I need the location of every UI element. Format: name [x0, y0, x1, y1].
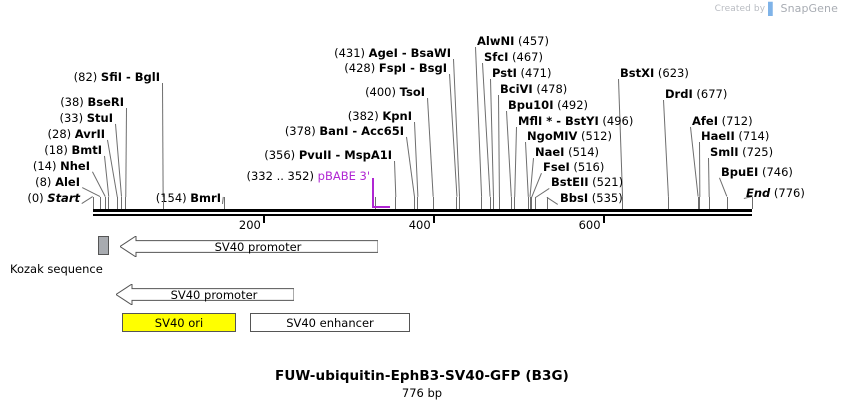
- leader-line: [427, 98, 434, 197]
- leader-line: [506, 111, 512, 197]
- enzyme-position: (332 .. 352): [246, 169, 317, 183]
- enzyme-label[interactable]: (378) BanI - Acc65I: [285, 125, 404, 138]
- leader-line: [162, 83, 164, 197]
- leader-line: [708, 158, 710, 197]
- enzyme-name: SfiI - BglI: [101, 70, 160, 84]
- enzyme-label[interactable]: End (776): [746, 187, 805, 200]
- restriction-site-tick[interactable]: [547, 197, 548, 209]
- enzyme-position: (400): [365, 85, 400, 99]
- restriction-site-tick[interactable]: [456, 197, 457, 209]
- restriction-site-tick[interactable]: [535, 197, 536, 209]
- leader-line: [690, 127, 699, 197]
- enzyme-label[interactable]: (0) Start: [27, 192, 80, 205]
- enzyme-name: NaeI: [535, 145, 564, 159]
- restriction-site-tick[interactable]: [514, 197, 515, 209]
- enzyme-position: (28): [48, 127, 75, 141]
- sequence-backbone-top: [93, 209, 752, 212]
- enzyme-position: (82): [74, 70, 101, 84]
- restriction-site-tick[interactable]: [752, 197, 753, 209]
- restriction-site-tick[interactable]: [493, 197, 494, 209]
- restriction-site-tick[interactable]: [709, 197, 710, 209]
- enzyme-name: End: [746, 186, 770, 200]
- enzyme-position: (18): [44, 143, 71, 157]
- enzyme-name: FspI - BsgI: [379, 61, 447, 75]
- enzyme-position: (725): [739, 145, 774, 159]
- enzyme-label[interactable]: AlwNI (457): [477, 35, 549, 48]
- feature-label: SV40 promoter: [120, 236, 378, 257]
- restriction-site-tick[interactable]: [499, 197, 500, 209]
- enzyme-name: BstXI: [620, 66, 654, 80]
- snapgene-watermark: Created by ▌ SnapGene: [715, 2, 838, 15]
- enzyme-label[interactable]: BstEII (521): [551, 176, 623, 189]
- ruler-tick-label: 600: [579, 218, 603, 232]
- enzyme-label[interactable]: (428) FspI - BsgI: [344, 62, 447, 75]
- enzyme-name: SfcI: [484, 50, 508, 64]
- leader-line: [453, 59, 460, 197]
- enzyme-label[interactable]: BbsI (535): [560, 192, 623, 205]
- feature-label: SV40 enhancer: [286, 316, 374, 330]
- restriction-site-tick[interactable]: [417, 197, 418, 209]
- restriction-site-tick[interactable]: [490, 197, 491, 209]
- enzyme-name: MflI * - BstYI: [518, 114, 599, 128]
- enzyme-name: TsoI: [400, 85, 425, 99]
- enzyme-label[interactable]: FseI (516): [543, 161, 604, 174]
- restriction-site-tick[interactable]: [668, 197, 669, 209]
- enzyme-label[interactable]: AfeI (712): [692, 115, 753, 128]
- restriction-site-tick[interactable]: [699, 197, 700, 209]
- leader-line: [406, 137, 415, 197]
- leader-line: [475, 47, 482, 197]
- restriction-site-tick[interactable]: [100, 197, 101, 209]
- enzyme-label[interactable]: NgoMIV (512): [527, 130, 612, 143]
- feature-label: SV40 promoter: [116, 284, 294, 305]
- restriction-site-tick[interactable]: [433, 197, 434, 209]
- enzyme-name: AgeI - BsaWI: [369, 46, 451, 60]
- enzyme-position: (431): [334, 46, 369, 60]
- enzyme-label[interactable]: MflI * - BstYI (496): [518, 115, 633, 128]
- restriction-site-tick[interactable]: [93, 197, 94, 209]
- pbabe-3-primer-bracket[interactable]: [372, 178, 390, 208]
- enzyme-name: HaeII: [701, 129, 735, 143]
- restriction-site-tick[interactable]: [108, 197, 109, 209]
- enzyme-name: AvrII: [75, 127, 105, 141]
- leader-line: [490, 79, 494, 197]
- enzyme-name: PstI: [492, 66, 517, 80]
- plasmid-length-label: 776 bp: [0, 386, 844, 400]
- enzyme-position: (154): [156, 191, 191, 205]
- enzyme-position: (516): [570, 160, 605, 174]
- ruler-tick-label: 400: [409, 218, 433, 232]
- enzyme-name: BseRI: [87, 95, 124, 109]
- enzyme-position: (746): [758, 165, 793, 179]
- enzyme-label[interactable]: Bpu10I (492): [508, 99, 588, 112]
- restriction-site-tick[interactable]: [531, 197, 532, 209]
- enzyme-name: KpnI: [382, 109, 412, 123]
- enzyme-label[interactable]: PstI (471): [492, 67, 551, 80]
- enzyme-label[interactable]: SmlI (725): [710, 146, 773, 159]
- enzyme-name: Bpu10I: [508, 98, 553, 112]
- primer-bracket-horizontal: [372, 206, 390, 208]
- restriction-site-tick[interactable]: [395, 197, 396, 209]
- enzyme-label[interactable]: (431) AgeI - BsaWI: [334, 47, 451, 60]
- ruler-tick: [263, 216, 265, 223]
- enzyme-name: BstEII: [551, 175, 589, 189]
- enzyme-name: DrdI: [665, 87, 693, 101]
- enzyme-position: (14): [33, 159, 60, 173]
- restriction-site-tick[interactable]: [622, 197, 623, 209]
- enzyme-label[interactable]: (8) AleI: [35, 176, 80, 189]
- enzyme-label[interactable]: (33) StuI: [59, 112, 113, 125]
- leader-line: [394, 161, 396, 197]
- enzyme-position: (467): [508, 50, 543, 64]
- leader-line: [663, 100, 669, 197]
- restriction-site-tick[interactable]: [121, 197, 122, 209]
- leader-line: [414, 122, 418, 197]
- enzyme-label[interactable]: (332 .. 352) pBABE 3': [246, 170, 370, 183]
- feature-kozak-sequence[interactable]: [98, 236, 109, 255]
- enzyme-position: (428): [344, 61, 379, 75]
- enzyme-position: (478): [533, 82, 568, 96]
- feature-sv40-enhancer[interactable]: SV40 enhancer: [250, 313, 410, 332]
- enzyme-name: BmtI: [71, 143, 102, 157]
- enzyme-name: AlwNI: [477, 34, 514, 48]
- enzyme-position: (521): [589, 175, 624, 189]
- ruler-tick: [603, 216, 605, 223]
- enzyme-label[interactable]: (154) BmrI: [156, 192, 221, 205]
- sequence-backbone-bottom: [93, 214, 752, 216]
- restriction-site-tick[interactable]: [163, 197, 164, 209]
- enzyme-name: AfeI: [692, 114, 718, 128]
- enzyme-position: (378): [285, 124, 320, 138]
- enzyme-position: (38): [60, 95, 87, 109]
- enzyme-label[interactable]: DrdI (677): [665, 88, 727, 101]
- enzyme-position: (496): [599, 114, 634, 128]
- enzyme-position: (677): [693, 87, 728, 101]
- feature-sv40-ori[interactable]: SV40 ori: [122, 313, 236, 332]
- leader-line: [104, 156, 109, 197]
- watermark-brand: SnapGene: [780, 2, 838, 15]
- ruler-tick: [433, 216, 435, 223]
- enzyme-position: (356): [264, 148, 299, 162]
- restriction-site-tick[interactable]: [414, 197, 415, 209]
- enzyme-name: SmlI: [710, 145, 739, 159]
- enzyme-label[interactable]: BpuEI (746): [721, 166, 793, 179]
- leader-line: [81, 196, 93, 204]
- leader-line: [547, 197, 558, 205]
- feature-label: SV40 ori: [155, 316, 203, 330]
- primer-bracket-vertical: [372, 178, 374, 208]
- enzyme-label[interactable]: BstXI (623): [620, 67, 689, 80]
- enzyme-position: (33): [59, 111, 86, 125]
- enzyme-position: (8): [35, 175, 55, 189]
- snapgene-logo-icon: ▌: [768, 3, 777, 15]
- restriction-site-tick[interactable]: [727, 197, 728, 209]
- enzyme-position: (457): [514, 34, 549, 48]
- restriction-site-tick[interactable]: [481, 197, 482, 209]
- plasmid-map: Created by ▌ SnapGene (82) SfiI - BglI(3…: [0, 0, 844, 408]
- enzyme-name: StuI: [87, 111, 113, 125]
- watermark-created-by: Created by: [715, 4, 766, 14]
- enzyme-name: FseI: [543, 160, 570, 174]
- enzyme-name: BanI - Acc65I: [319, 124, 404, 138]
- enzyme-position: (776): [770, 186, 805, 200]
- enzyme-name: BpuEI: [721, 165, 758, 179]
- enzyme-name: PvuII - MspA1I: [299, 148, 392, 162]
- leader-line: [125, 108, 127, 197]
- leader-line: [699, 142, 700, 197]
- enzyme-position: (714): [735, 129, 770, 143]
- enzyme-label[interactable]: (28) AvrII: [48, 128, 105, 141]
- restriction-site-tick[interactable]: [105, 197, 106, 209]
- ruler-tick-label: 200: [239, 218, 263, 232]
- enzyme-position: (512): [577, 129, 612, 143]
- enzyme-label[interactable]: (382) KpnI: [348, 110, 412, 123]
- leader-line: [525, 142, 529, 197]
- enzyme-name: pBABE 3': [318, 169, 370, 183]
- restriction-site-tick[interactable]: [117, 197, 118, 209]
- enzyme-name: AleI: [55, 175, 80, 189]
- feature-sv40-promoter[interactable]: SV40 promoter: [116, 284, 294, 305]
- enzyme-label[interactable]: (82) SfiI - BglI: [74, 71, 160, 84]
- leader-line: [719, 178, 727, 197]
- feature-caption: Kozak sequence: [10, 262, 103, 276]
- restriction-site-tick[interactable]: [459, 197, 460, 209]
- leader-line: [514, 127, 517, 197]
- enzyme-position: (0): [27, 191, 47, 205]
- enzyme-position: (623): [654, 66, 689, 80]
- enzyme-name: Start: [47, 191, 80, 205]
- restriction-site-tick[interactable]: [224, 197, 225, 209]
- enzyme-label[interactable]: (38) BseRI: [60, 96, 124, 109]
- restriction-site-tick[interactable]: [125, 197, 126, 209]
- enzyme-name: BciVI: [500, 82, 533, 96]
- enzyme-label[interactable]: (18) BmtI: [44, 144, 102, 157]
- enzyme-label[interactable]: HaeII (714): [701, 130, 769, 143]
- enzyme-position: (492): [553, 98, 588, 112]
- enzyme-label[interactable]: (14) NheI: [33, 160, 90, 173]
- enzyme-name: BbsI: [560, 191, 588, 205]
- enzyme-name: NgoMIV: [527, 129, 577, 143]
- enzyme-name: BmrI: [190, 191, 221, 205]
- enzyme-position: (471): [517, 66, 552, 80]
- enzyme-label[interactable]: SfcI (467): [484, 51, 543, 64]
- enzyme-label[interactable]: BciVI (478): [500, 83, 567, 96]
- enzyme-label[interactable]: NaeI (514): [535, 146, 599, 159]
- enzyme-name: NheI: [60, 159, 90, 173]
- enzyme-label[interactable]: (356) PvuII - MspA1I: [264, 149, 392, 162]
- restriction-site-tick[interactable]: [511, 197, 512, 209]
- enzyme-position: (712): [718, 114, 753, 128]
- enzyme-position: (382): [348, 109, 383, 123]
- enzyme-position: (535): [588, 191, 623, 205]
- leader-line: [498, 95, 500, 197]
- enzyme-label[interactable]: (400) TsoI: [365, 86, 425, 99]
- enzyme-position: (514): [564, 145, 599, 159]
- feature-sv40-promoter[interactable]: SV40 promoter: [120, 236, 378, 257]
- page-title: FUW-ubiquitin-EphB3-SV40-GFP (B3G): [0, 368, 844, 384]
